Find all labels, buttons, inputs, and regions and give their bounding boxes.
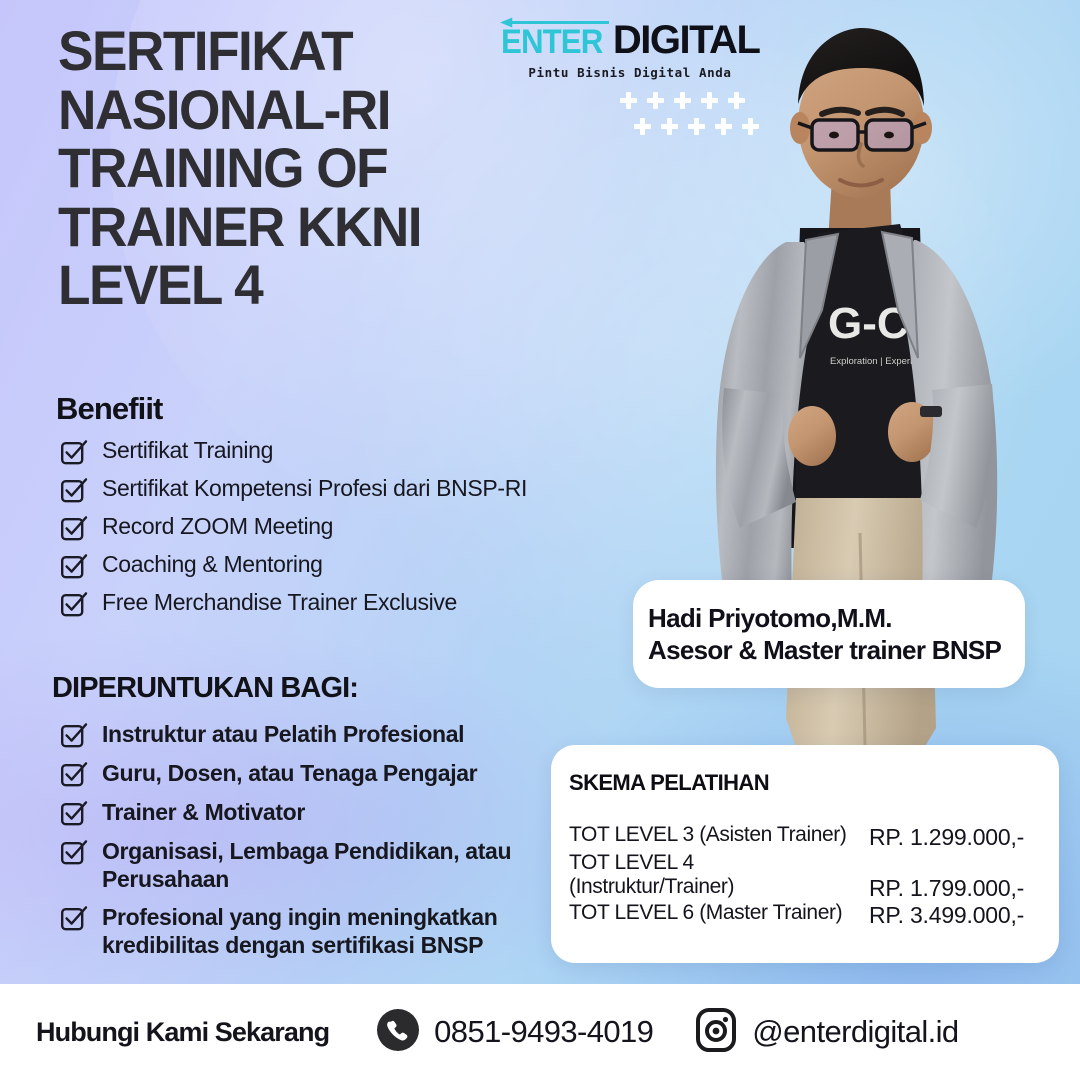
pricing-row-label-line: (Instruktur/Trainer) bbox=[569, 875, 869, 899]
plus-icon bbox=[728, 92, 745, 109]
plus-icon bbox=[661, 118, 678, 135]
checkbox-icon bbox=[60, 837, 90, 867]
checkbox-icon bbox=[60, 517, 85, 542]
target-item-label: Instruktur atau Pelatih Profesional bbox=[102, 720, 464, 748]
speaker-role: Asesor & Master trainer BNSP bbox=[648, 635, 1001, 666]
instagram-contact[interactable]: @enterdigital.id bbox=[695, 1007, 958, 1058]
pricing-row-value: RP. 1.799.000,- bbox=[869, 851, 1043, 902]
headline-line-1: SERTIFIKAT bbox=[58, 22, 552, 81]
benefit-section-title: Benefiit bbox=[56, 391, 162, 427]
target-item-label: Organisasi, Lembaga Pendidikan, atau Per… bbox=[102, 837, 580, 893]
pricing-row-label: TOT LEVEL 3 (Asisten Trainer) bbox=[569, 823, 869, 847]
benefit-item-label: Record ZOOM Meeting bbox=[102, 513, 333, 541]
pricing-row-label: TOT LEVEL 4(Instruktur/Trainer) bbox=[569, 851, 869, 900]
benefit-item: Coaching & Mentoring bbox=[60, 551, 600, 580]
contact-cta-text: Hubungi Kami Sekarang bbox=[36, 1017, 329, 1048]
benefit-item-label: Sertifikat Kompetensi Profesi dari BNSP-… bbox=[102, 475, 527, 503]
target-item-label: Trainer & Motivator bbox=[102, 798, 305, 826]
phone-icon bbox=[377, 1009, 419, 1056]
benefit-item: Sertifikat Kompetensi Profesi dari BNSP-… bbox=[60, 475, 600, 504]
svg-text:G-COACH: G-COACH bbox=[828, 299, 1038, 348]
checkbox-icon bbox=[60, 903, 90, 933]
plus-icon bbox=[620, 92, 637, 109]
checkbox-icon bbox=[60, 475, 90, 505]
pricing-card: SKEMA PELATIHAN TOT LEVEL 3 (Asisten Tra… bbox=[551, 745, 1059, 963]
checkbox-icon bbox=[60, 907, 85, 932]
checkbox-icon bbox=[60, 437, 90, 467]
checkbox-icon bbox=[60, 555, 85, 580]
checkbox-icon bbox=[60, 441, 85, 466]
pricing-row: TOT LEVEL 4(Instruktur/Trainer)RP. 1.799… bbox=[569, 851, 1043, 902]
plus-icon bbox=[742, 118, 759, 135]
checkbox-icon bbox=[60, 720, 90, 750]
checkbox-icon bbox=[60, 479, 85, 504]
target-item: Trainer & Motivator bbox=[60, 798, 580, 827]
benefit-list: Sertifikat TrainingSertifikat Kompetensi… bbox=[60, 437, 600, 627]
plus-decoration-group bbox=[620, 92, 770, 142]
target-item: Guru, Dosen, atau Tenaga Pengajar bbox=[60, 759, 580, 788]
svg-text:Exploration | Experience | Exp: Exploration | Experience | Expert | Enha… bbox=[830, 356, 1044, 367]
headline-line-2: NASIONAL-RI bbox=[58, 81, 552, 140]
checkbox-icon bbox=[60, 759, 90, 789]
phone-number: 0851-9493-4019 bbox=[434, 1014, 653, 1050]
target-item: Organisasi, Lembaga Pendidikan, atau Per… bbox=[60, 837, 580, 893]
pricing-row-label: TOT LEVEL 6 (Master Trainer) bbox=[569, 901, 869, 925]
target-item: Profesional yang ingin meningkatkan kred… bbox=[60, 903, 580, 959]
target-section-title: DIPERUNTUKAN BAGI: bbox=[52, 672, 358, 705]
phone-contact[interactable]: 0851-9493-4019 bbox=[377, 1009, 653, 1056]
plus-icon bbox=[715, 118, 732, 135]
checkbox-icon bbox=[60, 798, 90, 828]
instagram-icon bbox=[695, 1007, 737, 1058]
page-title: SERTIFIKAT NASIONAL-RI TRAINING OF TRAIN… bbox=[58, 22, 552, 315]
benefit-item: Record ZOOM Meeting bbox=[60, 513, 600, 542]
target-item-label: Guru, Dosen, atau Tenaga Pengajar bbox=[102, 759, 477, 787]
plus-icon bbox=[688, 118, 705, 135]
benefit-item: Free Merchandise Trainer Exclusive bbox=[60, 589, 600, 618]
plus-icon bbox=[647, 92, 664, 109]
benefit-item: Sertifikat Training bbox=[60, 437, 600, 466]
contact-footer: Hubungi Kami Sekarang 0851-9493-4019 @en… bbox=[0, 984, 1080, 1080]
speaker-name-card: Hadi Priyotomo,M.M. Asesor & Master trai… bbox=[633, 580, 1025, 688]
plus-icon bbox=[674, 92, 691, 109]
headline-line-4: TRAINER KKNI bbox=[58, 198, 552, 257]
checkbox-icon bbox=[60, 513, 90, 543]
pricing-rows: TOT LEVEL 3 (Asisten Trainer)RP. 1.299.0… bbox=[569, 823, 1043, 929]
headline-line-3: TRAINING OF bbox=[58, 139, 552, 198]
instagram-handle: @enterdigital.id bbox=[752, 1014, 958, 1050]
headline-line-5: LEVEL 4 bbox=[58, 256, 552, 315]
benefit-item-label: Coaching & Mentoring bbox=[102, 551, 323, 579]
pricing-row: TOT LEVEL 6 (Master Trainer)RP. 3.499.00… bbox=[569, 901, 1043, 929]
benefit-item-label: Sertifikat Training bbox=[102, 437, 273, 465]
pricing-row-label-line: TOT LEVEL 4 bbox=[569, 851, 869, 875]
target-list: Instruktur atau Pelatih ProfesionalGuru,… bbox=[60, 720, 580, 969]
poster-canvas: ENTER DIGITAL Pintu Bisnis Digital Anda … bbox=[0, 0, 1080, 1080]
pricing-row-value: RP. 1.299.000,- bbox=[869, 823, 1043, 851]
target-item: Instruktur atau Pelatih Profesional bbox=[60, 720, 580, 749]
pricing-row-value: RP. 3.499.000,- bbox=[869, 901, 1043, 929]
checkbox-icon bbox=[60, 593, 85, 618]
target-item-label: Profesional yang ingin meningkatkan kred… bbox=[102, 903, 580, 959]
pricing-title: SKEMA PELATIHAN bbox=[569, 770, 769, 796]
speaker-name: Hadi Priyotomo,M.M. bbox=[648, 603, 892, 634]
checkbox-icon bbox=[60, 724, 85, 749]
plus-icon bbox=[701, 92, 718, 109]
plus-icon bbox=[634, 118, 651, 135]
checkbox-icon bbox=[60, 763, 85, 788]
pricing-row: TOT LEVEL 3 (Asisten Trainer)RP. 1.299.0… bbox=[569, 823, 1043, 851]
benefit-item-label: Free Merchandise Trainer Exclusive bbox=[102, 589, 457, 617]
checkbox-icon bbox=[60, 841, 85, 866]
checkbox-icon bbox=[60, 589, 90, 619]
checkbox-icon bbox=[60, 551, 90, 581]
checkbox-icon bbox=[60, 802, 85, 827]
logo-digital-text: DIGITAL bbox=[613, 20, 760, 60]
